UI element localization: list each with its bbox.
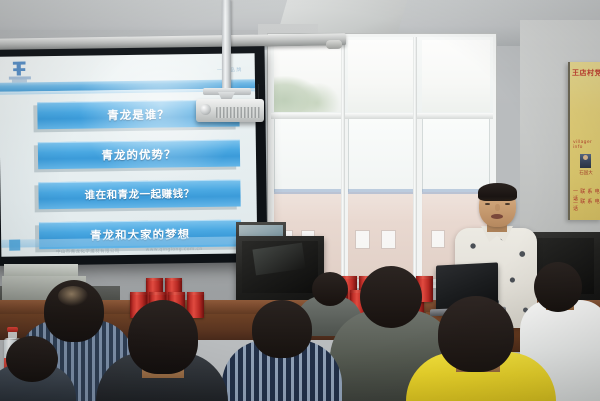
poster-person-name: 石国大 <box>570 170 600 176</box>
presentation-slide: 一个品牌 青龙是谁？ 青龙的优势？ <box>0 53 257 257</box>
display-monitor-left <box>236 236 324 306</box>
poster-portrait-photo <box>580 154 591 168</box>
portrait-head <box>583 155 588 160</box>
bottle-neck <box>8 331 17 339</box>
roller-screen-end-cap <box>326 40 342 49</box>
presenter-eyebrow <box>484 199 491 201</box>
building-band <box>274 189 342 194</box>
attendee-head <box>534 262 582 312</box>
attendee-head <box>128 300 198 374</box>
attendee-head <box>360 266 422 328</box>
tree-foliage <box>294 82 340 112</box>
presenter-mouth <box>491 214 503 219</box>
exterior-building-window <box>356 231 369 248</box>
exterior-building-window <box>432 231 444 247</box>
attendee-head <box>312 272 348 306</box>
slide-footer-company: 中山市青龙化学建材有限公司 <box>56 248 120 255</box>
projection-screen-surface: 一个品牌 青龙是谁？ 青龙的优势？ <box>0 53 257 257</box>
window-pane <box>274 40 342 112</box>
bottle-cap <box>7 327 18 332</box>
building-band <box>348 189 416 194</box>
projector-lens-icon <box>200 104 211 115</box>
slide-bar: 青龙的优势？ <box>38 139 240 169</box>
company-logo-icon <box>8 61 32 83</box>
slide-bar-text: 青龙的优势？ <box>101 146 176 163</box>
window-pane <box>348 40 416 112</box>
presenter-eyebrow <box>504 199 511 201</box>
wall-poster: 王店村党 villager info 石国大 一 联 系 电 话 二 联 系 电… <box>568 62 600 220</box>
window-pane <box>422 40 490 112</box>
window-pane <box>348 118 416 279</box>
poster-line-2: 二 联 系 电 话 <box>573 198 600 212</box>
poster-title: 王店村党 <box>572 68 600 78</box>
sky <box>422 40 490 112</box>
attendee-head <box>6 336 58 382</box>
attendee-head <box>252 300 312 358</box>
attendee-scalp-highlight <box>58 286 88 306</box>
slide-bar-item: 青龙的优势？ <box>0 137 256 178</box>
sky <box>348 40 416 112</box>
classroom-presentation-photo: 王店村党 villager info 石国大 一 联 系 电 话 二 联 系 电… <box>0 0 600 401</box>
poster-subtitle: villager info <box>573 140 600 150</box>
slide-footer-website: www.qinglong.com.cn <box>146 247 203 254</box>
projector-vents <box>216 107 260 118</box>
window-top-row <box>271 37 493 115</box>
projector-mount-pole <box>222 0 231 96</box>
slide-bar-text: 谁在和青龙一起赚钱？ <box>84 186 194 203</box>
attendee-head <box>438 296 514 372</box>
slide-bar-text: 青龙是谁？ <box>107 106 170 123</box>
window-mullion-horizontal <box>271 113 493 119</box>
slide-bar-item: 谁在和青龙一起赚钱？ <box>0 177 256 218</box>
window-mullion-vertical <box>413 37 417 285</box>
slide-bar: 谁在和青龙一起赚钱？ <box>38 179 240 209</box>
window-mullion-vertical <box>341 37 345 285</box>
exterior-building-window <box>382 231 395 248</box>
presenter-nose <box>495 204 500 211</box>
logo-mark <box>13 61 26 75</box>
